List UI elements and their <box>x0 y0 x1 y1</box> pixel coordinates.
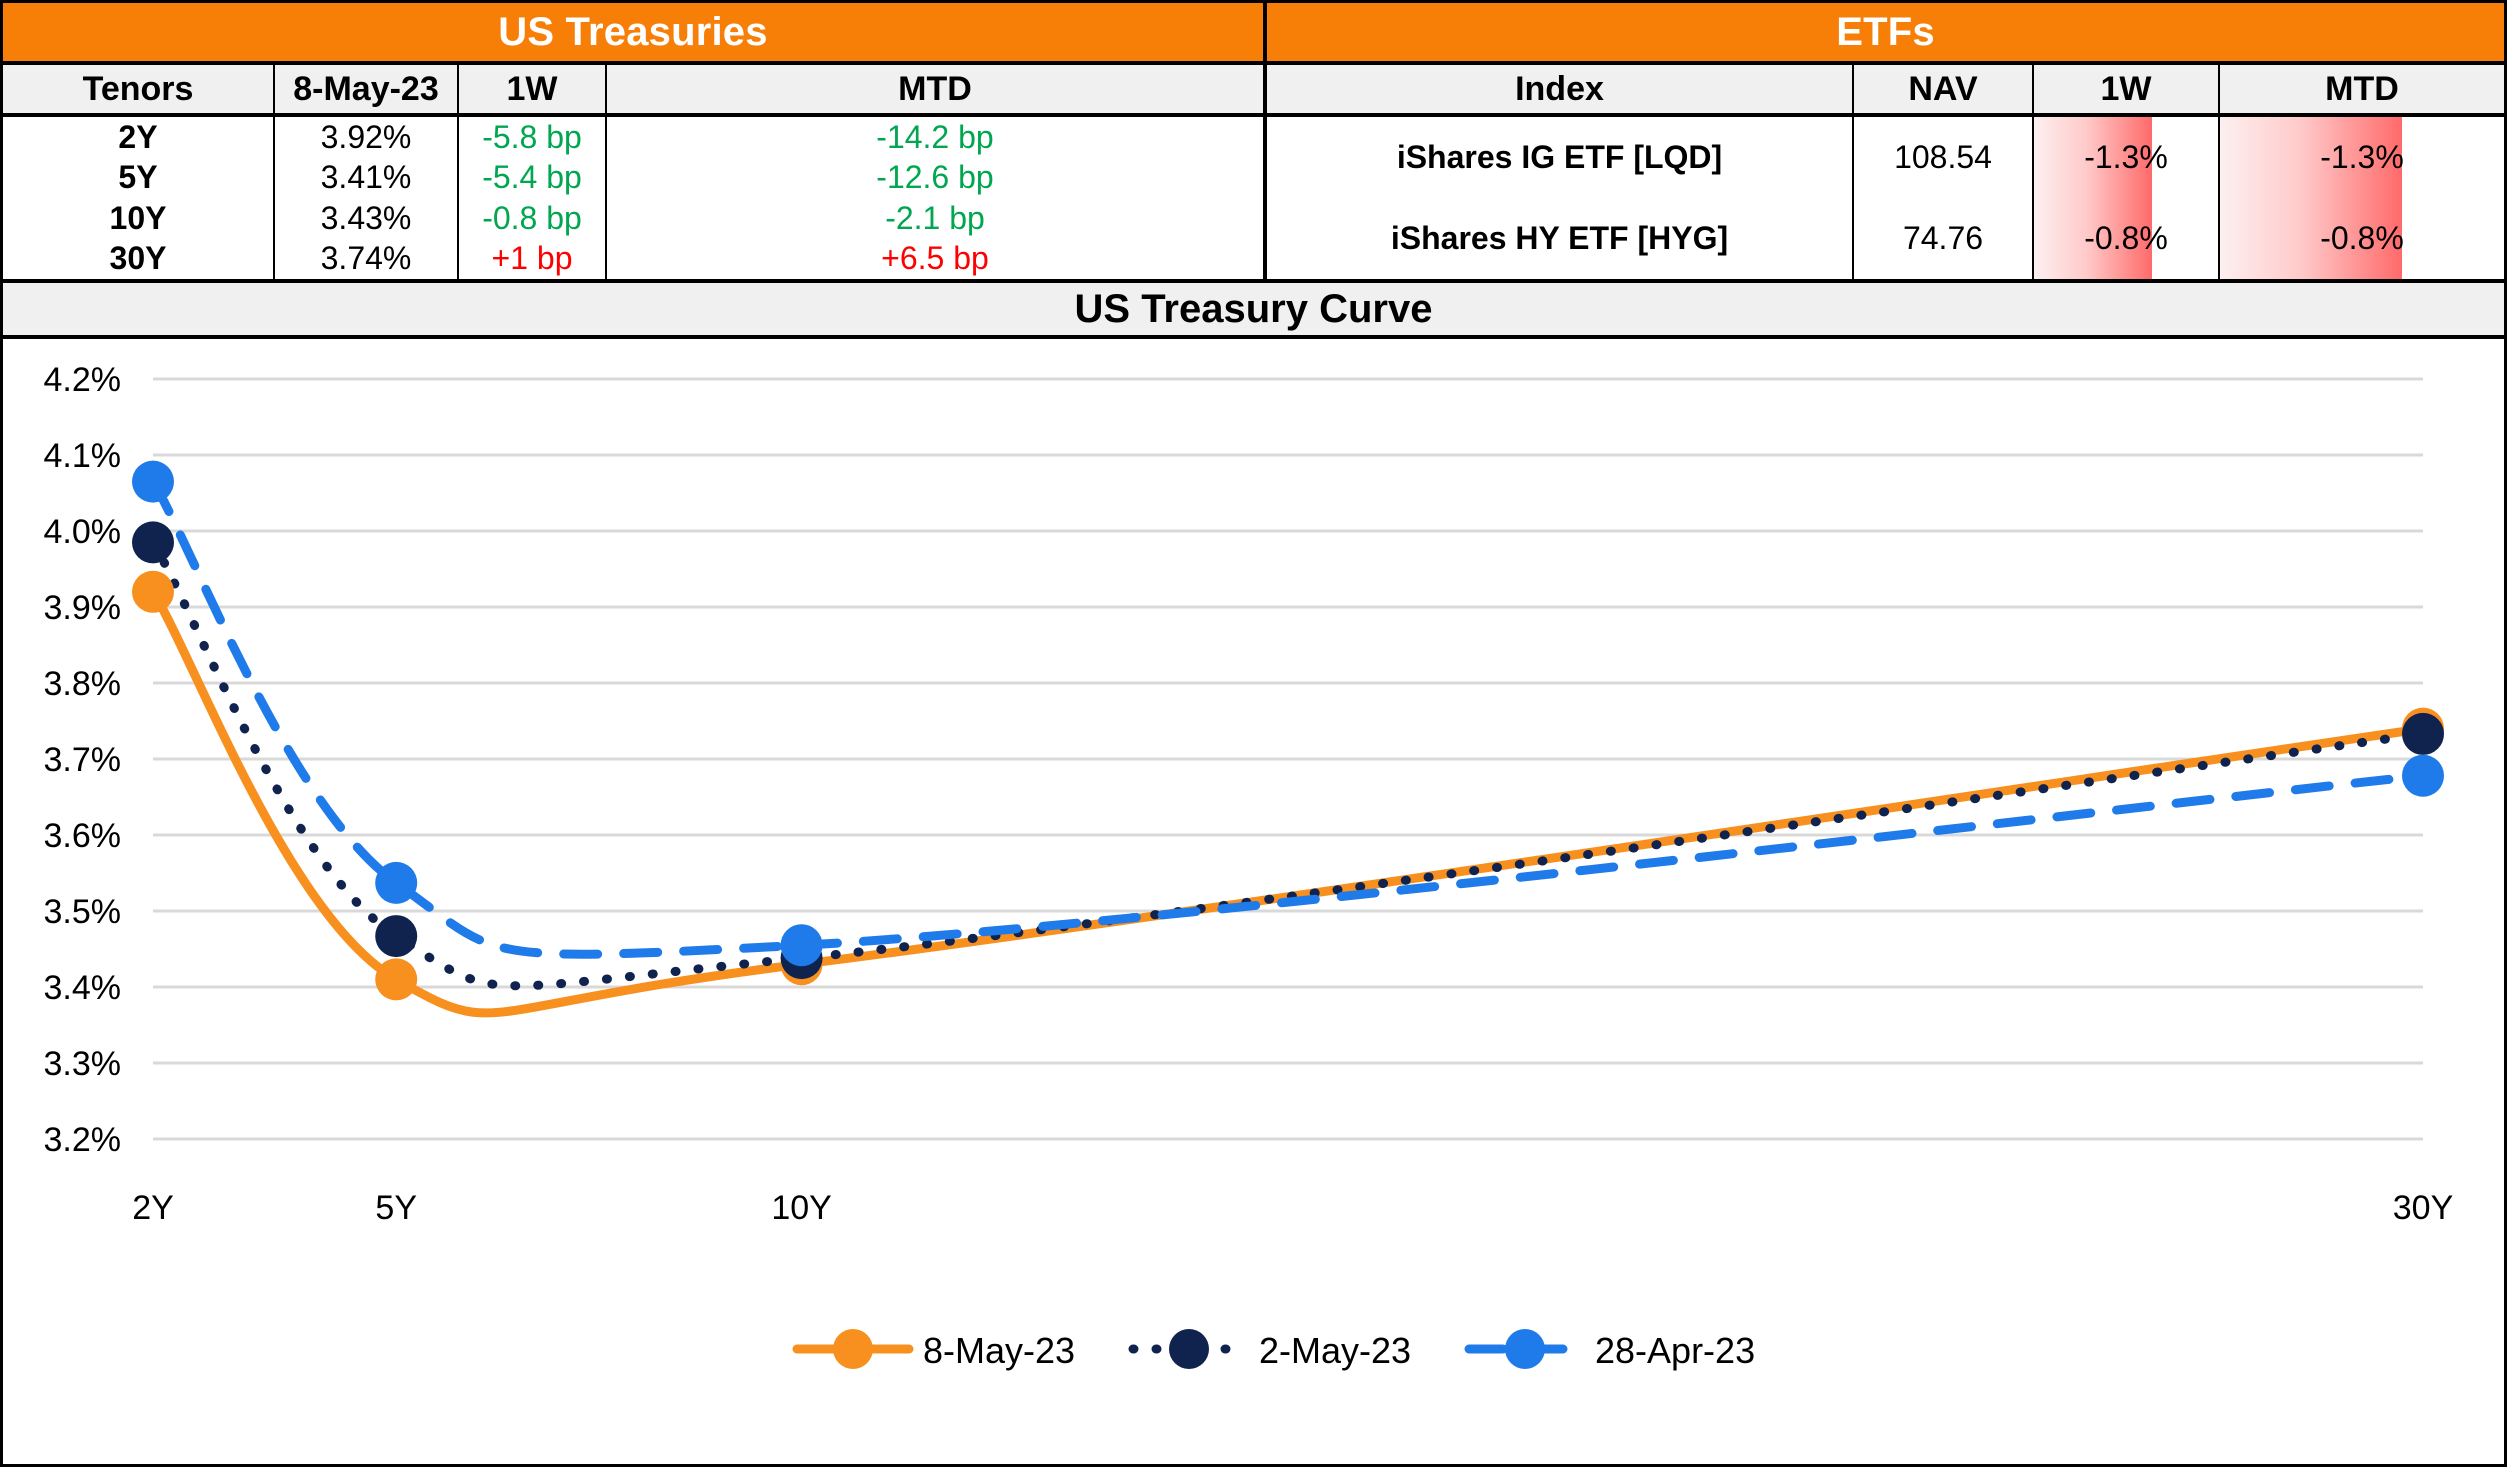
cell-1w-value: -1.3% <box>2084 139 2168 176</box>
data-point <box>132 521 174 563</box>
svg-text:10Y: 10Y <box>771 1189 832 1227</box>
legend-label-2-may-23[interactable]: 2-May-23 <box>1259 1330 1411 1371</box>
data-point <box>132 571 174 613</box>
data-point <box>781 924 823 966</box>
table-row[interactable]: iShares HY ETF [HYG] 74.76 -0.8% -0.8% <box>1267 198 2504 279</box>
cell-level: 3.92% <box>275 117 459 158</box>
legend-marker <box>1169 1329 1209 1369</box>
cell-tenor: 5Y <box>3 158 275 199</box>
data-point <box>2402 713 2444 755</box>
svg-text:4.2%: 4.2% <box>44 361 122 399</box>
cell-mtd-databar: -0.8% <box>2220 198 2504 279</box>
data-point <box>375 958 417 1000</box>
svg-text:4.0%: 4.0% <box>44 513 122 551</box>
cell-index: iShares IG ETF [LQD] <box>1267 117 1854 198</box>
cell-nav: 74.76 <box>1854 198 2034 279</box>
cell-mtd-databar: -1.3% <box>2220 117 2504 198</box>
svg-text:3.8%: 3.8% <box>44 665 122 703</box>
etfs-header-row: Index NAV 1W MTD <box>1267 65 2504 117</box>
cell-tenor: 30Y <box>3 239 275 280</box>
column-header-tenors[interactable]: Tenors <box>3 65 275 113</box>
cell-1w-databar: -0.8% <box>2034 198 2220 279</box>
legend-label-8-may-23[interactable]: 8-May-23 <box>923 1330 1075 1371</box>
cell-level: 3.74% <box>275 239 459 280</box>
column-header-1w[interactable]: 1W <box>459 65 607 113</box>
tables-region: US Treasuries Tenors 8-May-23 1W MTD 2Y … <box>3 3 2504 279</box>
cell-level: 3.43% <box>275 198 459 239</box>
data-point <box>375 915 417 957</box>
us-treasuries-body: 2Y 3.92% -5.8 bp -14.2 bp 5Y 3.41% -5.4 … <box>3 117 1263 279</box>
cell-1w-databar: -1.3% <box>2034 117 2220 198</box>
cell-1w: -0.8 bp <box>459 198 607 239</box>
series-line-8-may-23 <box>153 592 2423 1013</box>
chart-title: US Treasury Curve <box>3 279 2504 339</box>
cell-nav: 108.54 <box>1854 117 2034 198</box>
us-treasuries-header-row: Tenors 8-May-23 1W MTD <box>3 65 1263 117</box>
cell-mtd: -2.1 bp <box>607 198 1263 239</box>
column-header-mtd[interactable]: MTD <box>607 65 1263 113</box>
us-treasuries-panel: US Treasuries Tenors 8-May-23 1W MTD 2Y … <box>3 3 1267 279</box>
cell-1w-value: -0.8% <box>2084 220 2168 257</box>
column-header-1w[interactable]: 1W <box>2034 65 2220 113</box>
table-row[interactable]: 30Y 3.74% +1 bp +6.5 bp <box>3 239 1263 280</box>
svg-text:2Y: 2Y <box>132 1189 174 1227</box>
cell-mtd: -12.6 bp <box>607 158 1263 199</box>
cell-level: 3.41% <box>275 158 459 199</box>
column-header-mtd[interactable]: MTD <box>2220 65 2504 113</box>
data-point <box>132 461 174 503</box>
etfs-body: iShares IG ETF [LQD] 108.54 -1.3% -1.3% … <box>1267 117 2504 279</box>
cell-tenor: 10Y <box>3 198 275 239</box>
cell-mtd-value: -0.8% <box>2320 220 2404 257</box>
legend-marker <box>833 1329 873 1369</box>
table-row[interactable]: 5Y 3.41% -5.4 bp -12.6 bp <box>3 158 1263 199</box>
cell-index: iShares HY ETF [HYG] <box>1267 198 1854 279</box>
us-treasury-curve-chart: 4.2%4.1%4.0%3.9%3.8%3.7%3.6%3.5%3.4%3.3%… <box>3 339 2504 1464</box>
dashboard-page: US Treasuries Tenors 8-May-23 1W MTD 2Y … <box>0 0 2507 1467</box>
cell-tenor: 2Y <box>3 117 275 158</box>
series-line-2-may-23 <box>153 542 2423 985</box>
etfs-title: ETFs <box>1267 3 2504 65</box>
cell-mtd-value: -1.3% <box>2320 139 2404 176</box>
cell-1w: +1 bp <box>459 239 607 280</box>
chart-series-group <box>132 461 2444 1013</box>
column-header-level[interactable]: 8-May-23 <box>275 65 459 113</box>
series-line-28-apr-23 <box>153 482 2423 955</box>
cell-mtd: -14.2 bp <box>607 117 1263 158</box>
data-point <box>375 862 417 904</box>
table-row[interactable]: iShares IG ETF [LQD] 108.54 -1.3% -1.3% <box>1267 117 2504 198</box>
legend-marker <box>1505 1329 1545 1369</box>
chart-y-axis: 4.2%4.1%4.0%3.9%3.8%3.7%3.6%3.5%3.4%3.3%… <box>44 361 122 1159</box>
table-row[interactable]: 2Y 3.92% -5.8 bp -14.2 bp <box>3 117 1263 158</box>
svg-text:30Y: 30Y <box>2393 1189 2454 1227</box>
column-header-nav[interactable]: NAV <box>1854 65 2034 113</box>
svg-text:3.7%: 3.7% <box>44 741 122 779</box>
etfs-panel: ETFs Index NAV 1W MTD iShares IG ETF [LQ… <box>1267 3 2504 279</box>
cell-1w: -5.4 bp <box>459 158 607 199</box>
svg-text:3.9%: 3.9% <box>44 589 122 627</box>
cell-1w: -5.8 bp <box>459 117 607 158</box>
svg-text:3.6%: 3.6% <box>44 817 122 855</box>
svg-text:3.5%: 3.5% <box>44 893 122 931</box>
table-row[interactable]: 10Y 3.43% -0.8 bp -2.1 bp <box>3 198 1263 239</box>
data-point <box>2402 755 2444 797</box>
us-treasuries-title: US Treasuries <box>3 3 1263 65</box>
svg-text:3.3%: 3.3% <box>44 1045 122 1083</box>
chart-legend: 8-May-232-May-2328-Apr-23 <box>797 1329 1755 1371</box>
svg-text:5Y: 5Y <box>375 1189 417 1227</box>
chart-x-axis: 2Y5Y10Y30Y <box>132 1189 2453 1227</box>
svg-text:3.4%: 3.4% <box>44 969 122 1007</box>
column-header-index[interactable]: Index <box>1267 65 1854 113</box>
chart-svg: 4.2%4.1%4.0%3.9%3.8%3.7%3.6%3.5%3.4%3.3%… <box>3 339 2504 1464</box>
legend-label-28-apr-23[interactable]: 28-Apr-23 <box>1595 1330 1755 1371</box>
svg-text:3.2%: 3.2% <box>44 1121 122 1159</box>
svg-text:4.1%: 4.1% <box>44 437 122 475</box>
chart-gridlines <box>153 379 2423 1139</box>
cell-mtd: +6.5 bp <box>607 239 1263 280</box>
